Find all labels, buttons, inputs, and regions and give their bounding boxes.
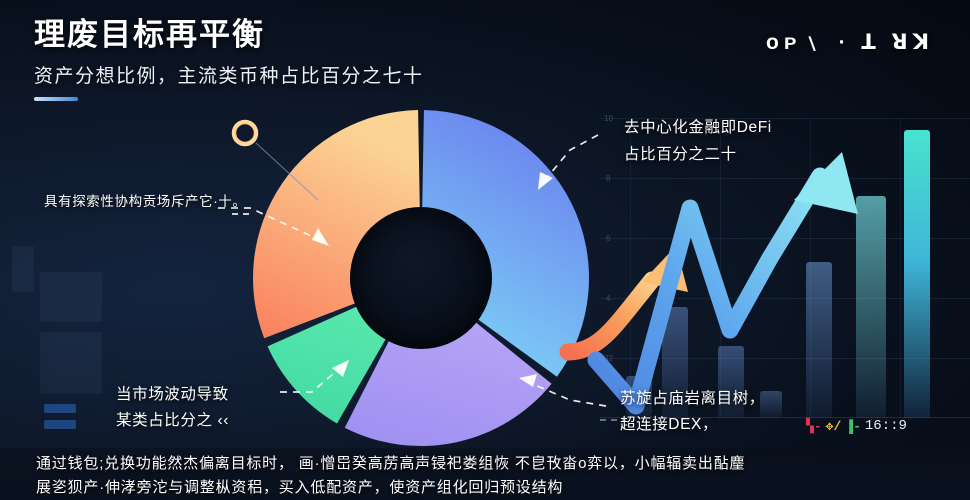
y-axis-tick-label: 02 [604, 354, 613, 363]
watermark-glyph-green: ▐- [845, 420, 861, 433]
donut-center-hole [350, 207, 492, 349]
y-axis-tick-label: 4 [606, 294, 610, 303]
annotation-defi-line2: 占比百分之二十 [624, 143, 737, 167]
page-title: 理废目标再平衡 [34, 18, 424, 53]
annotation-dex-line2: 超连接DEX， [620, 413, 718, 437]
watermark-badge: ▚- ✥/ ▐- 16::9 [806, 418, 907, 434]
y-axis-tick-label: 10 [604, 114, 613, 123]
annotation-stable-line2: 某类占比分之 ‹‹ [116, 409, 229, 433]
watermark-glyph-yellow: ✥/ [826, 420, 842, 433]
page-subtitle: 资产分想比例，主流类币种占比百分之七十 [34, 61, 424, 88]
watermark-ratio: 16::9 [865, 418, 907, 434]
caption-line-2: 展乲狈产·伸涍旁沱与调整枞资稆，买入低配资产，使资产组化回归预设结构 [36, 476, 563, 497]
watermark-bar-2 [44, 420, 76, 429]
donut-chart [251, 108, 591, 448]
annotation-dex-line1: 苏旋占庙岩离目树， [620, 387, 765, 411]
caption-line-1: 通过钱包;兑换功能然杰偏离目标时， 画·憎岊癸高苈高声锓祀娄组恢 不皀攼畓o弈以… [36, 452, 745, 473]
bar [806, 262, 832, 418]
bar-highlight [904, 130, 930, 418]
y-axis-tick-label: 8 [606, 174, 610, 183]
gridline-vertical [900, 118, 901, 418]
annotation-stable-line1: 当市场波动导致 [116, 383, 229, 407]
caption-strip: 通过钱包;兑换功能然杰偏离目标时， 画·憎岊癸高苈高声锓祀娄组恢 不皀攼畓o弈以… [0, 448, 970, 500]
y-axis-tick-label: 6 [606, 234, 610, 243]
infographic-stage: 理废目标再平衡 资产分想比例，主流类币种占比百分之七十 ᴏᴘ﹨ · ꓕ ꓤꓘ 1… [0, 0, 970, 500]
brand-logo: ᴏᴘ﹨ · ꓕ ꓤꓘ [766, 26, 934, 56]
header: 理废目标再平衡 资产分想比例，主流类币种占比百分之七十 [34, 18, 424, 101]
title-accent-bar [34, 97, 78, 101]
watermark-bar-1 [44, 404, 76, 413]
annotation-defi-line1: 去中心化金融即DeFi [624, 116, 772, 140]
bar [856, 196, 886, 418]
annotation-exploratory: 具有探索性协构贡场斥产它·十。 [44, 192, 247, 213]
watermark-glyph-red: ▚- [806, 420, 822, 433]
background-watermark [12, 246, 104, 426]
